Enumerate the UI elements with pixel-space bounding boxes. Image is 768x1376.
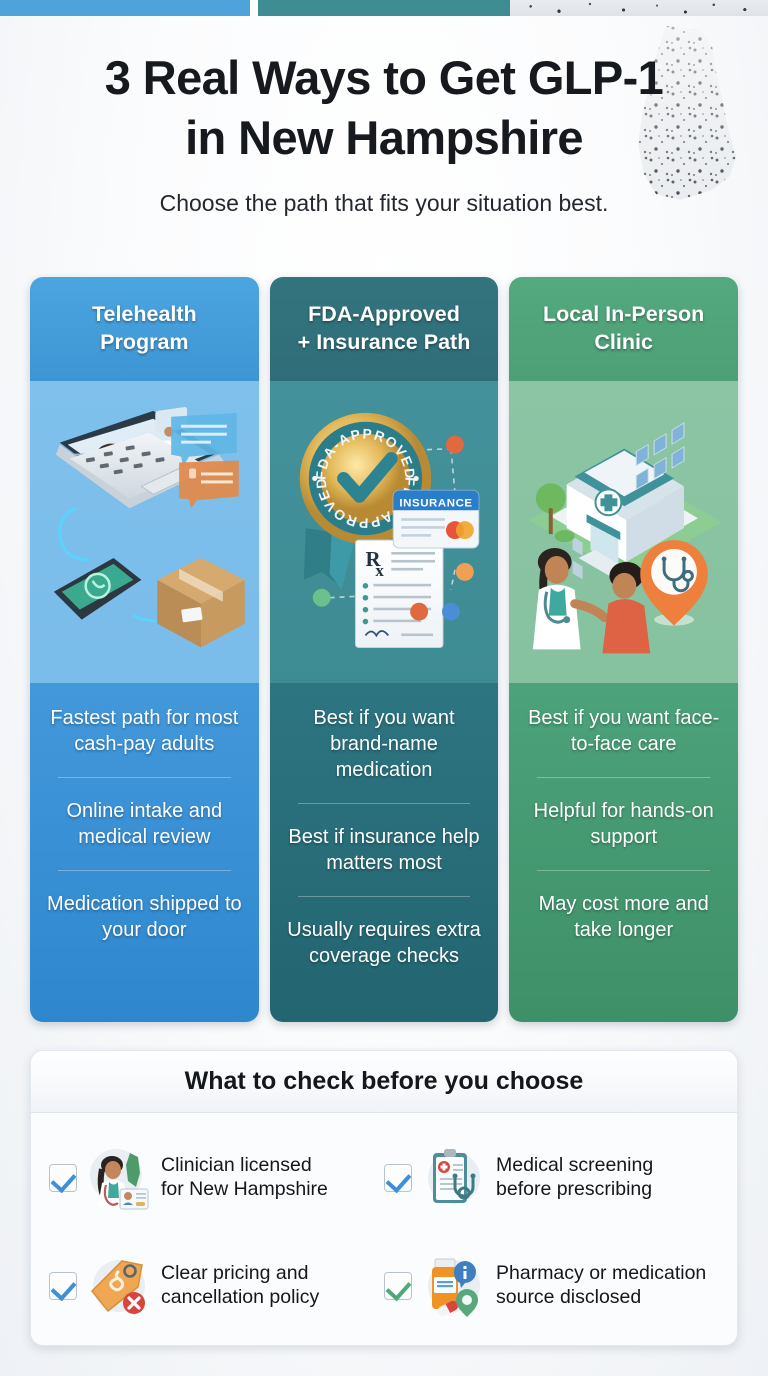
- checklist-panel: What to check before you choose: [30, 1050, 738, 1346]
- svg-text:x: x: [375, 561, 384, 580]
- checklist-item-text: Clear pricing and cancellation policy: [161, 1262, 319, 1310]
- bullet-divider: [298, 803, 471, 804]
- bullet-item: Best if insurance help matters most: [282, 824, 487, 876]
- infographic-page: 3 Real Ways to Get GLP-1 in New Hampshir…: [0, 0, 768, 1376]
- rx-prescription-paper: R x: [355, 540, 442, 647]
- card-title-line-1: Local In-Person: [543, 302, 704, 326]
- page-subtitle: Choose the path that fits your situation…: [0, 190, 768, 217]
- page-title-line-2: in New Hampshire: [0, 108, 768, 168]
- checkbox-checked-icon[interactable]: [384, 1164, 412, 1192]
- bullet-item: Best if you want brand-name medication: [282, 705, 487, 783]
- bullet-item: Fastest path for most cash-pay adults: [42, 705, 247, 757]
- card-illustration-local-clinic: [509, 381, 738, 683]
- bullet-divider: [58, 870, 231, 871]
- clipboard-stethoscope-icon: [421, 1145, 487, 1211]
- checklist-text-line-1: Pharmacy or medication: [496, 1262, 706, 1284]
- insurance-card: INSURANCE: [393, 490, 478, 548]
- bullet-item: Medication shipped to your door: [42, 891, 247, 943]
- top-strip-teal-segment: [258, 0, 510, 16]
- checklist-grid: Clinician licensed for New Hampshire: [31, 1113, 737, 1346]
- card-title-line-1: FDA-Approved: [308, 302, 460, 326]
- shipping-package: [157, 558, 244, 647]
- smartphone: [54, 558, 141, 620]
- bullet-divider: [298, 896, 471, 897]
- card-title-line-2: Program: [100, 330, 188, 354]
- checklist-item-text: Medical screening before prescribing: [496, 1154, 653, 1202]
- bullet-item: May cost more and take longer: [521, 891, 726, 943]
- bullet-divider: [58, 777, 231, 778]
- card-header-local-clinic: Local In-Person Clinic: [509, 277, 738, 381]
- card-title-line-2: Clinic: [594, 330, 653, 354]
- checkbox-checked-icon[interactable]: [49, 1164, 77, 1192]
- checklist-item-text: Clinician licensed for New Hampshire: [161, 1154, 328, 1202]
- bullet-item: Best if you want face-to-face care: [521, 705, 726, 757]
- checklist-item[interactable]: Pharmacy or medication source disclosed: [384, 1235, 719, 1337]
- bullet-divider: [537, 870, 710, 871]
- options-columns: Telehealth Program: [30, 277, 738, 1022]
- checklist-text-line-1: Clinician licensed: [161, 1154, 312, 1176]
- option-card-local-clinic[interactable]: Local In-Person Clinic: [509, 277, 738, 1022]
- card-bullets-local-clinic: Best if you want face-to-face care Helpf…: [509, 683, 738, 1022]
- checklist-text-line-1: Clear pricing and: [161, 1262, 308, 1284]
- card-bullets-fda-insurance: Best if you want brand-name medication B…: [270, 683, 499, 1022]
- card-illustration-fda-insurance: FDA-APPROVED FDA-APPROVED R x: [270, 381, 499, 683]
- bullet-item: Helpful for hands-on support: [521, 798, 726, 850]
- pill-bottle-info-location-icon: [421, 1253, 487, 1319]
- chat-bubble-orange: [179, 461, 239, 509]
- checklist-text-line-2: before prescribing: [496, 1178, 652, 1200]
- card-header-telehealth: Telehealth Program: [30, 277, 259, 381]
- checklist-item[interactable]: Clinician licensed for New Hampshire: [49, 1127, 384, 1229]
- top-strip-gap: [250, 0, 258, 16]
- card-bullets-telehealth: Fastest path for most cash-pay adults On…: [30, 683, 259, 1022]
- top-strip-blue-segment: [0, 0, 250, 16]
- bullet-item: Usually requires extra coverage checks: [282, 917, 487, 969]
- top-color-strip: [0, 0, 768, 16]
- clinic-building-doctor-patient-illustration: [509, 381, 738, 681]
- laptop-video-call-illustration: [30, 381, 259, 681]
- option-card-fda-insurance[interactable]: FDA-Approved + Insurance Path: [270, 277, 499, 1022]
- svg-text:INSURANCE: INSURANCE: [399, 497, 472, 509]
- bullet-divider: [537, 777, 710, 778]
- fda-badge-insurance-rx-illustration: FDA-APPROVED FDA-APPROVED R x: [270, 381, 499, 681]
- page-header: 3 Real Ways to Get GLP-1 in New Hampshir…: [0, 48, 768, 217]
- checkbox-checked-icon[interactable]: [49, 1272, 77, 1300]
- bullet-item: Online intake and medical review: [42, 798, 247, 850]
- checklist-item[interactable]: Clear pricing and cancellation policy: [49, 1235, 384, 1337]
- option-card-telehealth[interactable]: Telehealth Program: [30, 277, 259, 1022]
- page-title: 3 Real Ways to Get GLP-1 in New Hampshir…: [0, 48, 768, 168]
- top-strip-granite-segment: [510, 0, 768, 16]
- card-header-fda-insurance: FDA-Approved + Insurance Path: [270, 277, 499, 381]
- price-tag-no-fee-icon: [86, 1253, 152, 1319]
- clinician-id-badge-icon: [86, 1145, 152, 1211]
- checklist-text-line-2: cancellation policy: [161, 1286, 319, 1308]
- checklist-text-line-2: for New Hampshire: [161, 1178, 328, 1200]
- checklist-item-text: Pharmacy or medication source disclosed: [496, 1262, 706, 1310]
- card-illustration-telehealth: [30, 381, 259, 683]
- card-title-line-1: Telehealth: [92, 302, 197, 326]
- checklist-header: What to check before you choose: [31, 1051, 737, 1113]
- page-title-line-1: 3 Real Ways to Get GLP-1: [0, 48, 768, 108]
- checklist-item[interactable]: Medical screening before prescribing: [384, 1127, 719, 1229]
- checklist-text-line-1: Medical screening: [496, 1154, 653, 1176]
- checklist-title: What to check before you choose: [185, 1067, 584, 1096]
- map-pin-stethoscope-icon: [641, 540, 709, 625]
- checklist-text-line-2: source disclosed: [496, 1286, 641, 1308]
- card-title-line-2: + Insurance Path: [298, 330, 471, 354]
- checkbox-checked-icon[interactable]: [384, 1272, 412, 1300]
